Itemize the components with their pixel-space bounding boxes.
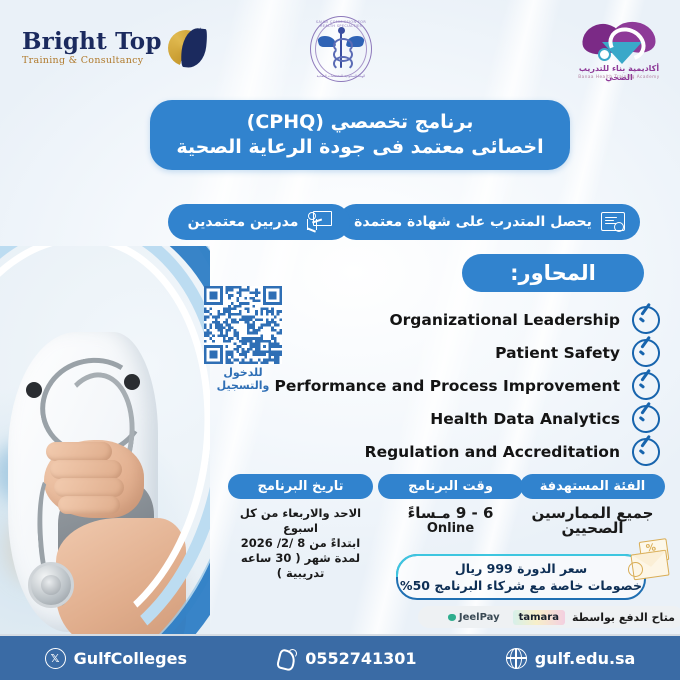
card-audience-line: الصحيين bbox=[520, 521, 665, 536]
card-date-line: الاحد والاربعاء من كل اسبوع bbox=[228, 506, 373, 536]
badge-trainers-label: مدربين معتمدين bbox=[188, 214, 299, 230]
check-circle-icon bbox=[631, 371, 662, 402]
bright-top-subtitle: Training & Consultancy bbox=[22, 55, 143, 66]
tamara-logo: tamara bbox=[513, 610, 565, 625]
header-logos: ✦ Bright Top Training & Consultancy SAUD… bbox=[0, 0, 680, 96]
topic-label: Performance and Process Improvement bbox=[274, 377, 620, 395]
poster-canvas: ✦ Bright Top Training & Consultancy SAUD… bbox=[0, 0, 680, 680]
check-circle-icon bbox=[631, 338, 662, 369]
card-target-audience: الفئة المستهدفة جميع الممارسين الصحيين bbox=[520, 474, 665, 536]
topics-heading: المحاور: bbox=[462, 254, 644, 292]
check-circle-icon bbox=[631, 305, 662, 336]
topic-item: Health Data Analytics bbox=[270, 405, 660, 433]
payment-label: متاح الدفع بواسطة bbox=[572, 611, 675, 624]
banaa-heart-icon bbox=[582, 22, 656, 64]
topic-label: Organizational Leadership bbox=[389, 311, 620, 329]
qr-label: للدخول والتسجيل bbox=[200, 366, 286, 392]
hero-photo bbox=[0, 246, 210, 646]
card-date-line: لمدة شهر ( 30 ساعه تدريبية ) bbox=[228, 551, 373, 581]
check-circle-icon bbox=[631, 437, 662, 468]
jeelpay-logo: JeelPay bbox=[442, 610, 506, 625]
card-date-body: الاحد والاربعاء من كل اسبوع ابتداءً من 8… bbox=[228, 506, 373, 581]
trainer-board-icon bbox=[306, 210, 330, 234]
card-audience-heading: الفئة المستهدفة bbox=[520, 474, 665, 499]
banaa-name-en: Banaa Health Training Academy bbox=[576, 74, 662, 79]
price-banner: سعر الدورة 999 ريال خصومات خاصة مع شركاء… bbox=[396, 554, 646, 600]
seal-ring-bottom-text: الهيئة السعودية للتخصصات الصحية bbox=[310, 74, 372, 78]
badge-certificate-label: يحصل المتدرب على شهادة معتمدة bbox=[354, 214, 592, 230]
card-time-mode: Online bbox=[378, 521, 523, 536]
footer-website[interactable]: gulf.edu.sa bbox=[506, 648, 636, 669]
check-circle-icon bbox=[631, 404, 662, 435]
footer-social[interactable]: 𝕏 GulfColleges bbox=[45, 648, 187, 669]
qr-registration-block[interactable]: للدخول والتسجيل bbox=[200, 286, 286, 392]
topics-heading-label: المحاور: bbox=[510, 261, 596, 285]
certificate-icon bbox=[600, 210, 624, 234]
price-line-1: سعر الدورة 999 ريال bbox=[455, 560, 587, 577]
phone-icon bbox=[276, 648, 297, 669]
jeelpay-label: JeelPay bbox=[459, 612, 500, 623]
page-title: برنامج تخصصي (CPHQ) اخصائى معتمد فى جودة… bbox=[150, 100, 570, 170]
topic-label: Regulation and Accreditation bbox=[365, 443, 620, 461]
price-line-2: خصومات خاصة مع شركاء البرنامج 50% bbox=[400, 577, 642, 594]
banaa-academy-logo: أكاديمية بناء للتدريب الصحي Banaa Health… bbox=[576, 22, 662, 84]
globe-icon bbox=[506, 648, 527, 669]
badge-trainers[interactable]: مدربين معتمدين bbox=[168, 204, 350, 240]
card-time-heading: وقت البرنامج bbox=[378, 474, 523, 499]
topic-item: Patient Safety bbox=[270, 339, 660, 367]
card-audience-body: جميع الممارسين الصحيين bbox=[520, 506, 665, 536]
bright-top-mark-icon: ✦ bbox=[168, 26, 212, 70]
topic-item: Organizational Leadership bbox=[270, 306, 660, 334]
title-line-1: برنامج تخصصي (CPHQ) bbox=[247, 110, 474, 135]
topic-item: Regulation and Accreditation bbox=[270, 438, 660, 466]
payment-methods: متاح الدفع بواسطة tamara JeelPay bbox=[418, 606, 680, 628]
gift-discount-envelope-icon: % bbox=[628, 540, 670, 580]
card-time-line: 6 - 9 مـساءً bbox=[378, 506, 523, 521]
banaa-name-ar: أكاديمية بناء للتدريب الصحي bbox=[576, 64, 662, 82]
card-program-time: وقت البرنامج 6 - 9 مـساءً Online bbox=[378, 474, 523, 536]
jeelpay-mark-icon bbox=[448, 614, 456, 621]
footer-bar: 𝕏 GulfColleges 0552741301 gulf.edu.sa bbox=[0, 636, 680, 680]
topic-item: Performance and Process Improvement bbox=[270, 372, 660, 400]
card-program-date: تاريخ البرنامج الاحد والاربعاء من كل اسب… bbox=[228, 474, 373, 581]
badge-certificate[interactable]: يحصل المتدرب على شهادة معتمدة bbox=[338, 204, 640, 240]
bright-top-logo: ✦ Bright Top Training & Consultancy bbox=[22, 26, 212, 70]
topics-list: Organizational Leadership Patient Safety… bbox=[270, 306, 660, 471]
x-twitter-icon: 𝕏 bbox=[45, 648, 66, 669]
footer-phone[interactable]: 0552741301 bbox=[276, 648, 416, 669]
bright-top-name: Bright Top bbox=[22, 30, 162, 54]
caduceus-seal-icon: SAUDI COMMISSION FOR HEALTH SPECIALTIES … bbox=[310, 16, 372, 82]
qr-code-image[interactable] bbox=[204, 286, 282, 364]
card-date-heading: تاريخ البرنامج bbox=[228, 474, 373, 499]
title-line-2: اخصائى معتمد فى جودة الرعاية الصحية bbox=[176, 135, 543, 160]
topic-label: Health Data Analytics bbox=[430, 410, 620, 428]
footer-social-text: GulfColleges bbox=[74, 649, 187, 668]
topic-label: Patient Safety bbox=[495, 344, 620, 362]
card-date-line: ابتداءً من 8 /2/ 2026 bbox=[228, 536, 373, 551]
footer-website-text: gulf.edu.sa bbox=[535, 649, 636, 668]
card-time-body: 6 - 9 مـساءً Online bbox=[378, 506, 523, 536]
footer-phone-text: 0552741301 bbox=[305, 649, 416, 668]
